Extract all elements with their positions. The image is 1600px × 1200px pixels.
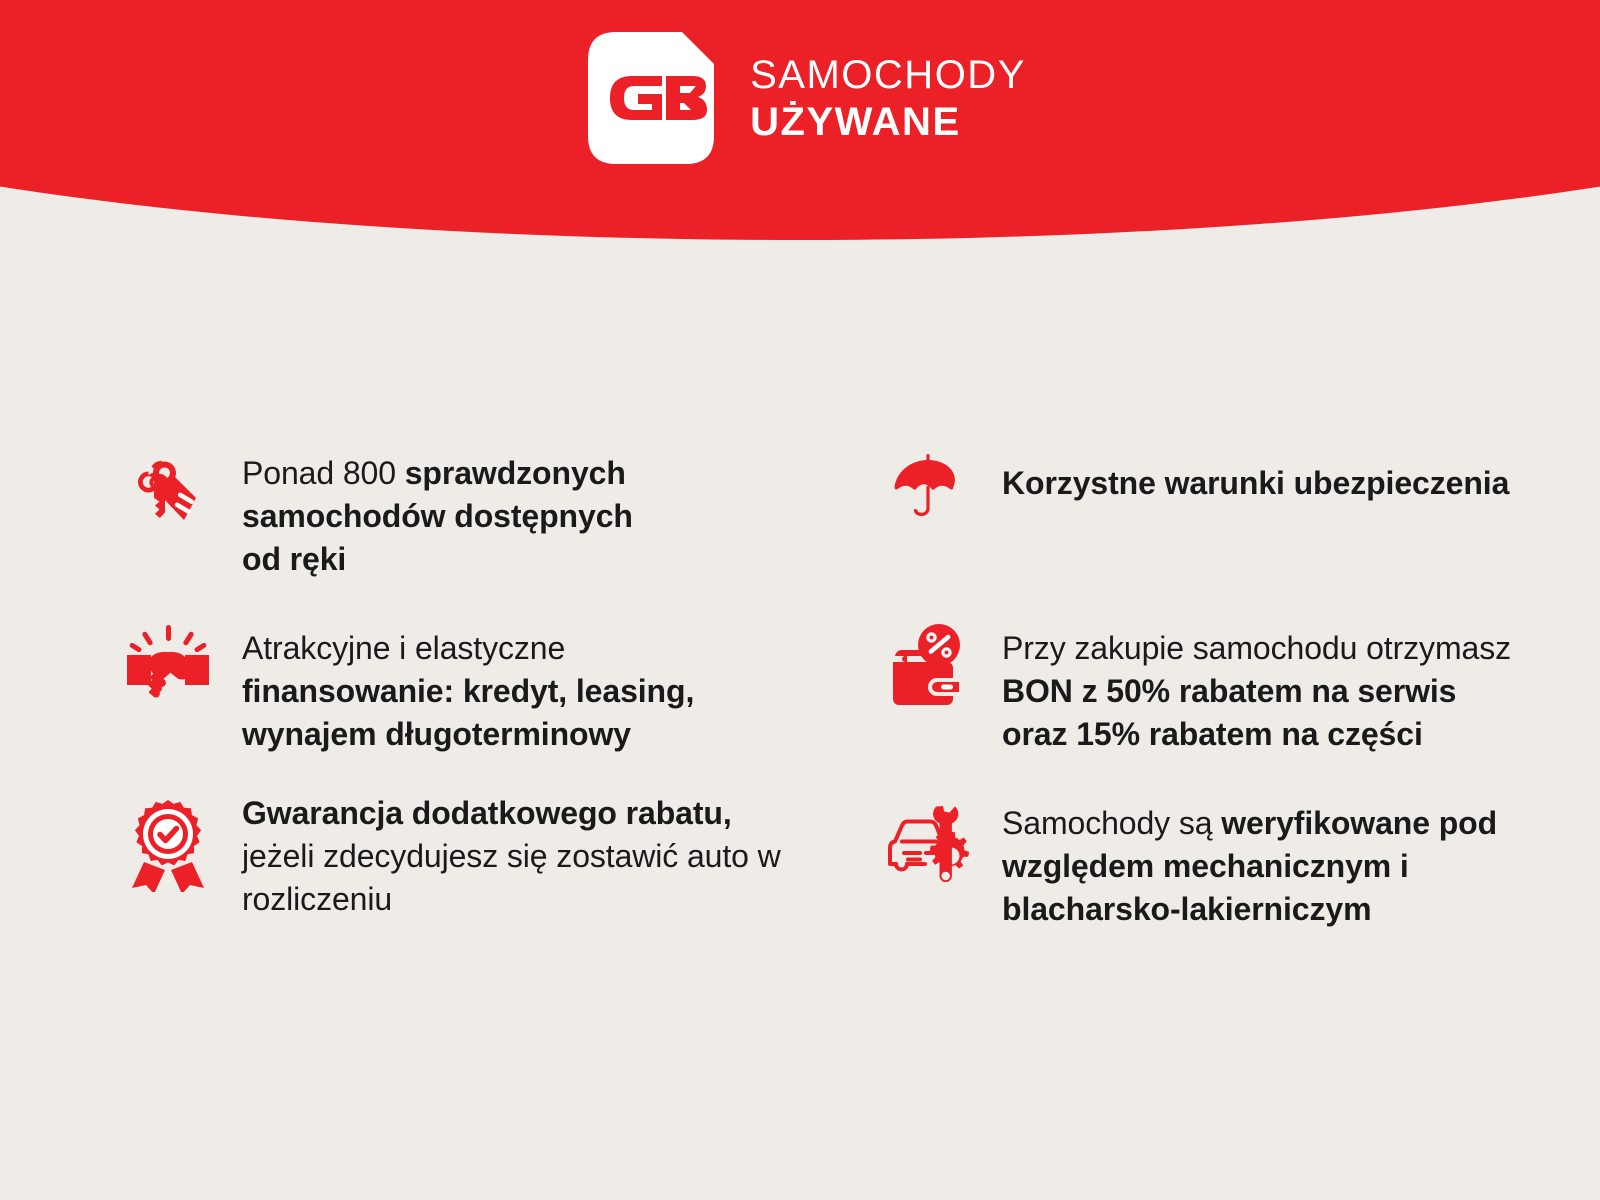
feature-text-keys: Ponad 800 sprawdzonych samochodów dostęp… — [242, 440, 672, 581]
feature-text-bold: Korzystne warunki ubezpieczenia — [1002, 465, 1509, 501]
feature-text-umbrella: Korzystne warunki ubezpieczenia — [1002, 440, 1509, 505]
wallet-percent-icon — [880, 615, 976, 711]
brand-title-line2: UŻYWANE — [750, 102, 1026, 142]
feature-item-umbrella: Korzystne warunki ubezpieczenia — [860, 440, 1600, 615]
feature-text-financing: Atrakcyjne i elastyczne finansowanie: kr… — [242, 615, 742, 756]
award-badge-icon — [120, 790, 216, 886]
feature-text-regular-lead: Atrakcyjne i elastyczne — [242, 630, 565, 666]
feature-text-bold: Gwarancja dodatkowego rabatu, — [242, 795, 732, 831]
brand-title-line1: SAMOCHODY — [750, 55, 1026, 95]
feature-text-regular-lead: Przy zakupie samochodu otrzymasz — [1002, 630, 1511, 666]
feature-text-voucher: Przy zakupie samochodu otrzymasz BON z 5… — [1002, 615, 1512, 756]
feature-text-bold: BON z 50% rabatem na serwis oraz 15% rab… — [1002, 673, 1456, 752]
feature-item-guarantee: Gwarancja dodatkowego rabatu, jeżeli zde… — [120, 790, 860, 965]
gb-logo-mark[interactable] — [574, 24, 722, 172]
feature-text-regular-tail: jeżeli zdecydujesz się zostawić auto w r… — [242, 838, 781, 917]
feature-item-voucher: Przy zakupie samochodu otrzymasz BON z 5… — [860, 615, 1600, 790]
feature-text-guarantee: Gwarancja dodatkowego rabatu, jeżeli zde… — [242, 790, 782, 921]
handshake-icon — [120, 615, 216, 711]
umbrella-icon — [880, 440, 976, 536]
feature-text-regular-lead: Samochody są — [1002, 805, 1221, 841]
feature-text-inspection: Samochody są weryfikowane pod względem m… — [1002, 790, 1522, 931]
feature-item-keys: Ponad 800 sprawdzonych samochodów dostęp… — [120, 440, 860, 615]
feature-item-inspection: Samochody są weryfikowane pod względem m… — [860, 790, 1600, 965]
brand-wordmark: SAMOCHODY UŻYWANE — [750, 55, 1026, 142]
car-wrench-gear-icon — [880, 790, 976, 886]
feature-item-financing: Atrakcyjne i elastyczne finansowanie: kr… — [120, 615, 860, 790]
features-grid: Ponad 800 sprawdzonych samochodów dostęp… — [0, 440, 1600, 965]
car-keys-icon — [120, 440, 216, 536]
header-banner: SAMOCHODY UŻYWANE — [0, 0, 1600, 240]
brand-lockup: SAMOCHODY UŻYWANE — [0, 0, 1600, 240]
feature-text-bold: finansowanie: kredyt, leasing, wynajem d… — [242, 673, 694, 752]
feature-text-regular-lead: Ponad 800 — [242, 455, 405, 491]
